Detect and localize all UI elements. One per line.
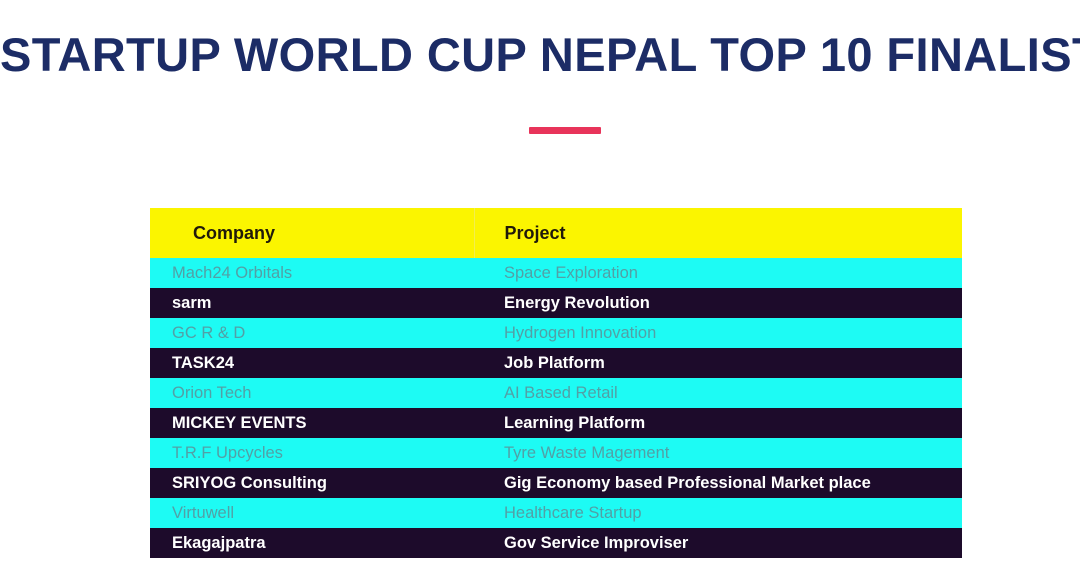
- cell-company: GC R & D: [150, 318, 474, 348]
- cell-company: SRIYOG Consulting: [150, 468, 474, 498]
- table-row: MICKEY EVENTSLearning Platform: [150, 408, 962, 438]
- table-header: Company Project: [150, 208, 962, 258]
- table-row: GC R & DHydrogen Innovation: [150, 318, 962, 348]
- table-row: SRIYOG ConsultingGig Economy based Profe…: [150, 468, 962, 498]
- cell-project: Healthcare Startup: [474, 498, 962, 528]
- page-title: STARTUP WORLD CUP NEPAL TOP 10 FINALIST: [0, 26, 1080, 84]
- cell-project: Space Exploration: [474, 258, 962, 288]
- cell-company: sarm: [150, 288, 474, 318]
- table-row: sarmEnergy Revolution: [150, 288, 962, 318]
- cell-company: Mach24 Orbitals: [150, 258, 474, 288]
- cell-project: Energy Revolution: [474, 288, 962, 318]
- cell-project: Gig Economy based Professional Market pl…: [474, 468, 962, 498]
- table-row: TASK24Job Platform: [150, 348, 962, 378]
- cell-project: AI Based Retail: [474, 378, 962, 408]
- cell-project: Learning Platform: [474, 408, 962, 438]
- table-row: Orion TechAI Based Retail: [150, 378, 962, 408]
- cell-project: Tyre Waste Magement: [474, 438, 962, 468]
- cell-company: T.R.F Upcycles: [150, 438, 474, 468]
- cell-project: Gov Service Improviser: [474, 528, 962, 558]
- finalist-table: Company Project Mach24 OrbitalsSpace Exp…: [150, 208, 962, 558]
- table-row: VirtuwellHealthcare Startup: [150, 498, 962, 528]
- cell-project: Hydrogen Innovation: [474, 318, 962, 348]
- column-header-project: Project: [474, 208, 962, 258]
- table-body: Mach24 OrbitalsSpace ExplorationsarmEner…: [150, 258, 962, 558]
- column-header-company: Company: [150, 208, 474, 258]
- cell-company: Virtuwell: [150, 498, 474, 528]
- table-header-row: Company Project: [150, 208, 962, 258]
- table-row: T.R.F UpcyclesTyre Waste Magement: [150, 438, 962, 468]
- title-accent-rule: [529, 127, 601, 134]
- table-row: EkagajpatraGov Service Improviser: [150, 528, 962, 558]
- cell-company: Orion Tech: [150, 378, 474, 408]
- cell-company: Ekagajpatra: [150, 528, 474, 558]
- cell-project: Job Platform: [474, 348, 962, 378]
- cell-company: MICKEY EVENTS: [150, 408, 474, 438]
- table-row: Mach24 OrbitalsSpace Exploration: [150, 258, 962, 288]
- cell-company: TASK24: [150, 348, 474, 378]
